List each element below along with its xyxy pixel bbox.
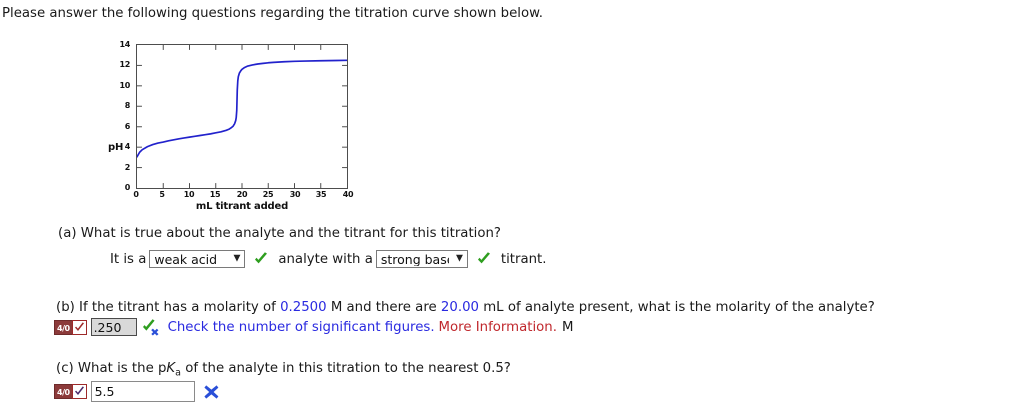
attempt-count-label: 4/0 — [54, 384, 72, 399]
question-c-incorrect-x-icon — [204, 384, 219, 400]
question-a-mid-text: analyte with a — [278, 252, 373, 267]
chart-plot-area — [136, 44, 348, 189]
chart-xtick-35: 35 — [312, 190, 330, 199]
chart-ytick-12: 12 — [108, 60, 130, 69]
chart-ytick-6: 6 — [108, 122, 130, 131]
chart-ytick-2: 2 — [108, 163, 130, 172]
question-c-pka-symbol: K — [166, 361, 175, 376]
question-a-answer-row: It is a weak acid ▼ analyte with a stron… — [110, 250, 546, 268]
question-b-attempt-badge[interactable]: 4/0 — [54, 320, 87, 335]
chart-xtick-15: 15 — [206, 190, 224, 199]
question-b-more-information-link[interactable]: More Information. — [439, 320, 557, 335]
question-a-tail-text: titrant. — [501, 252, 547, 267]
chart-xtick-25: 25 — [259, 190, 277, 199]
question-b-prompt-part2: M and there are — [327, 300, 441, 315]
question-b-partial-status-icon — [142, 319, 162, 336]
question-b-unit-label: M — [562, 320, 573, 335]
titrant-molarity-value: 0.2500 — [280, 300, 327, 315]
chart-ytick-14: 14 — [108, 40, 130, 49]
attempt-checkbox-icon[interactable] — [72, 384, 87, 399]
chart-xtick-5: 5 — [153, 190, 171, 199]
chart-xtick-10: 10 — [180, 190, 198, 199]
chart-ytick-4: 4 — [108, 142, 130, 151]
titrant-type-select[interactable]: strong base — [376, 250, 468, 268]
attempt-count-label: 4/0 — [54, 320, 72, 335]
question-b-prompt-part1: (b) If the titrant has a molarity of — [56, 300, 280, 315]
question-c-prompt-suffix: of the analyte in this titration to the … — [181, 361, 511, 376]
question-b-feedback-sigfigs: Check the number of significant figures. — [168, 320, 435, 335]
question-c-answer-row: 4/0 — [54, 381, 219, 402]
analyte-select-wrapper[interactable]: weak acid ▼ — [146, 250, 248, 268]
question-c-prompt-prefix: (c) What is the p — [56, 361, 166, 376]
chart-xtick-0: 0 — [127, 190, 145, 199]
titrant-correct-check-icon — [476, 251, 492, 267]
question-c-attempt-badge[interactable]: 4/0 — [54, 384, 87, 399]
question-b-answer-input[interactable] — [91, 318, 137, 336]
question-b-prompt: (b) If the titrant has a molarity of 0.2… — [56, 300, 875, 315]
chart-xtick-30: 30 — [286, 190, 304, 199]
chart-xtick-40: 40 — [339, 190, 357, 199]
question-b-prompt-part3: mL of analyte present, what is the molar… — [479, 300, 875, 315]
chart-x-axis-title: mL titrant added — [136, 201, 348, 212]
analyte-type-select[interactable]: weak acid — [149, 250, 245, 268]
attempt-checkbox-icon[interactable] — [72, 320, 87, 335]
analyte-correct-check-icon — [253, 251, 269, 267]
page-instructions: Please answer the following questions re… — [2, 6, 543, 21]
chart-ytick-10: 10 — [108, 81, 130, 90]
titrant-select-wrapper[interactable]: strong base ▼ — [373, 250, 471, 268]
question-a-lead-text: It is a — [110, 252, 146, 267]
titration-curve-chart: pH 14 12 10 8 6 4 2 0 — [108, 38, 368, 210]
chart-xtick-20: 20 — [233, 190, 251, 199]
question-b-answer-row: 4/0 Check the number of significant figu… — [54, 318, 573, 336]
question-a-prompt: (a) What is true about the analyte and t… — [58, 226, 501, 241]
chart-curve-svg — [137, 45, 347, 188]
question-c-answer-input[interactable] — [91, 381, 195, 402]
question-c-prompt: (c) What is the pKa of the analyte in th… — [56, 361, 511, 379]
analyte-volume-value: 20.00 — [441, 300, 479, 315]
chart-ytick-8: 8 — [108, 101, 130, 110]
